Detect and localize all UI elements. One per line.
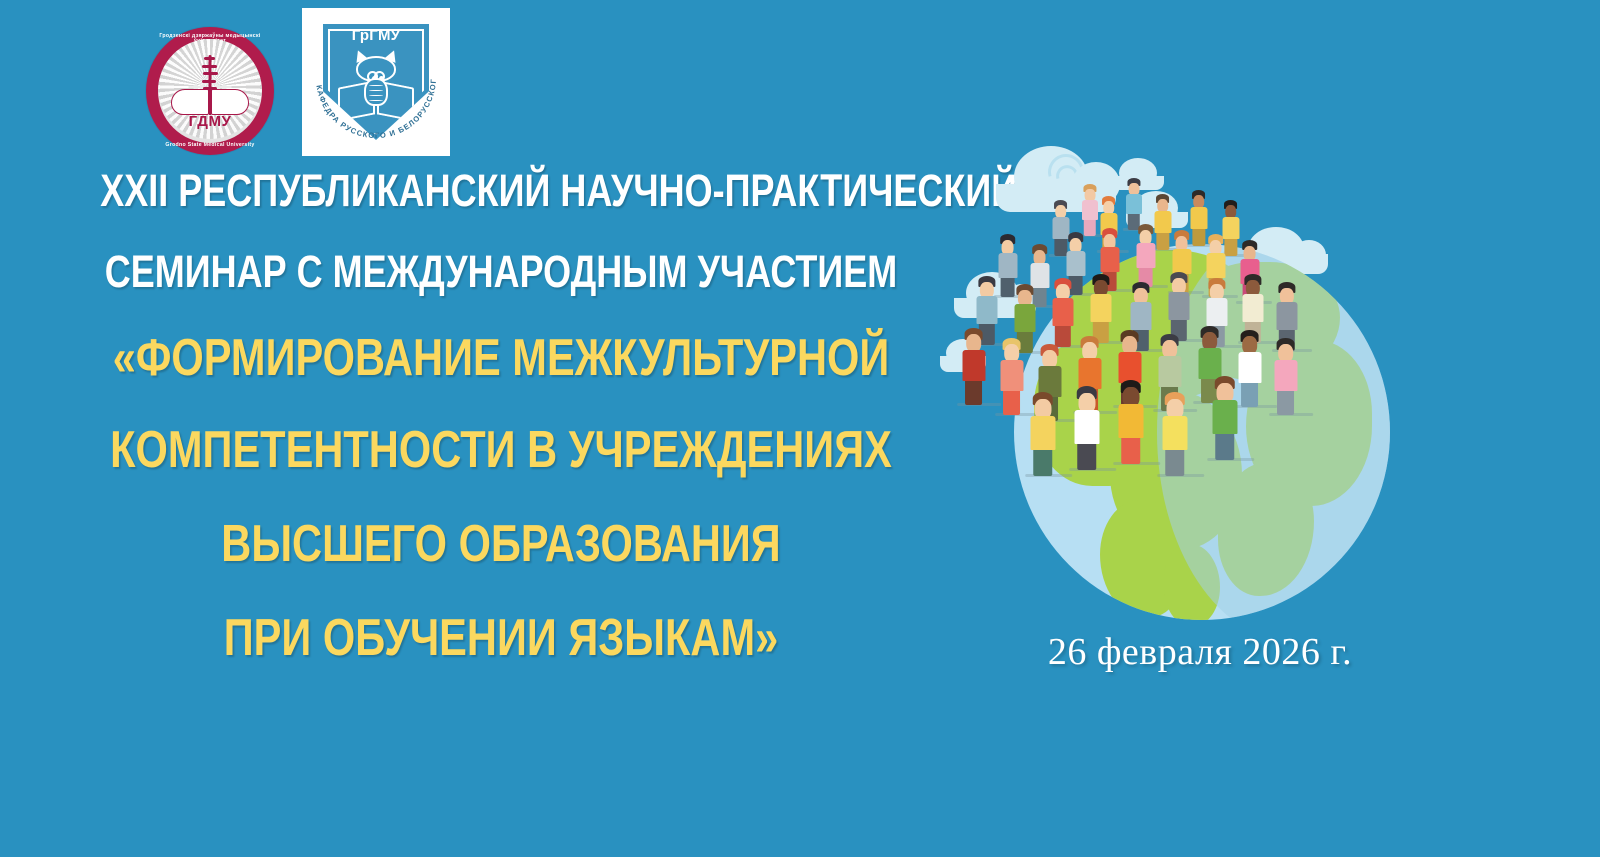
person-figure [1190,192,1207,245]
person-figure [1052,280,1073,346]
globe-illustration [940,150,1460,650]
svg-text:КАФЕДРА РУССКОГО И БЕЛОРУССКОГ: КАФЕДРА РУССКОГО И БЕЛОРУССКОГО ЯЗЫКОВ [302,8,438,140]
title-line-4: ПРИ ОБУЧЕНИИ ЯЗЫКАМ» [100,612,902,664]
grsmu-department-logo: ГрГМУ КАФЕДРА РУССКОГО И БЕЛОРУССКОГО Я [302,8,450,156]
person-figure [1030,394,1055,475]
gdmu-seal-inner: ГДМУ [158,39,262,143]
heading-line-1: XXII РЕСПУБЛИКАНСКИЙ НАУЧНО-ПРАКТИЧЕСКИЙ [100,168,902,213]
gdmu-seal-logo: Гродзенскі дзяржаўны медыцынскі ўніверсі… [146,27,274,155]
logo-row: Гродзенскі дзяржаўны медыцынскі ўніверсі… [146,8,450,156]
open-book-icon [171,89,249,115]
person-figure [1126,180,1142,229]
person-figure [1082,186,1098,235]
person-figure [1000,340,1023,414]
person-figure [1074,388,1099,469]
title-line-2: КОМПЕТЕНТНОСТИ В УЧРЕЖДЕНИЯХ [100,424,902,476]
person-figure [1154,196,1171,249]
person-figure [1136,226,1155,286]
title-line-3: ВЫСШЕГО ОБРАЗОВАНИЯ [100,518,902,570]
person-figure [1090,276,1111,342]
person-figure [1212,378,1237,459]
grsmu-ring-text: КАФЕДРА РУССКОГО И БЕЛОРУССКОГО ЯЗЫКОВ [302,8,450,156]
crowd-of-people [940,150,1316,526]
gdmu-ring-text-bottom: Grodno State Medical University [146,143,274,148]
person-figure [1274,340,1297,414]
person-figure [1168,274,1189,340]
poster-text-column: XXII РЕСПУБЛИКАНСКИЙ НАУЧНО-ПРАКТИЧЕСКИЙ… [0,168,1002,664]
person-figure [1118,382,1143,463]
heading-line-2: СЕМИНАР С МЕЖДУНАРОДНЫМ УЧАСТИЕМ [100,249,902,294]
gdmu-abbreviation: ГДМУ [158,114,262,129]
event-date: 26 февраля 2026 г. [940,630,1460,674]
person-figure [962,330,985,404]
title-line-1: «ФОРМИРОВАНИЕ МЕЖКУЛЬТУРНОЙ [100,332,902,384]
person-figure [1238,332,1261,406]
person-figure [1162,394,1187,475]
